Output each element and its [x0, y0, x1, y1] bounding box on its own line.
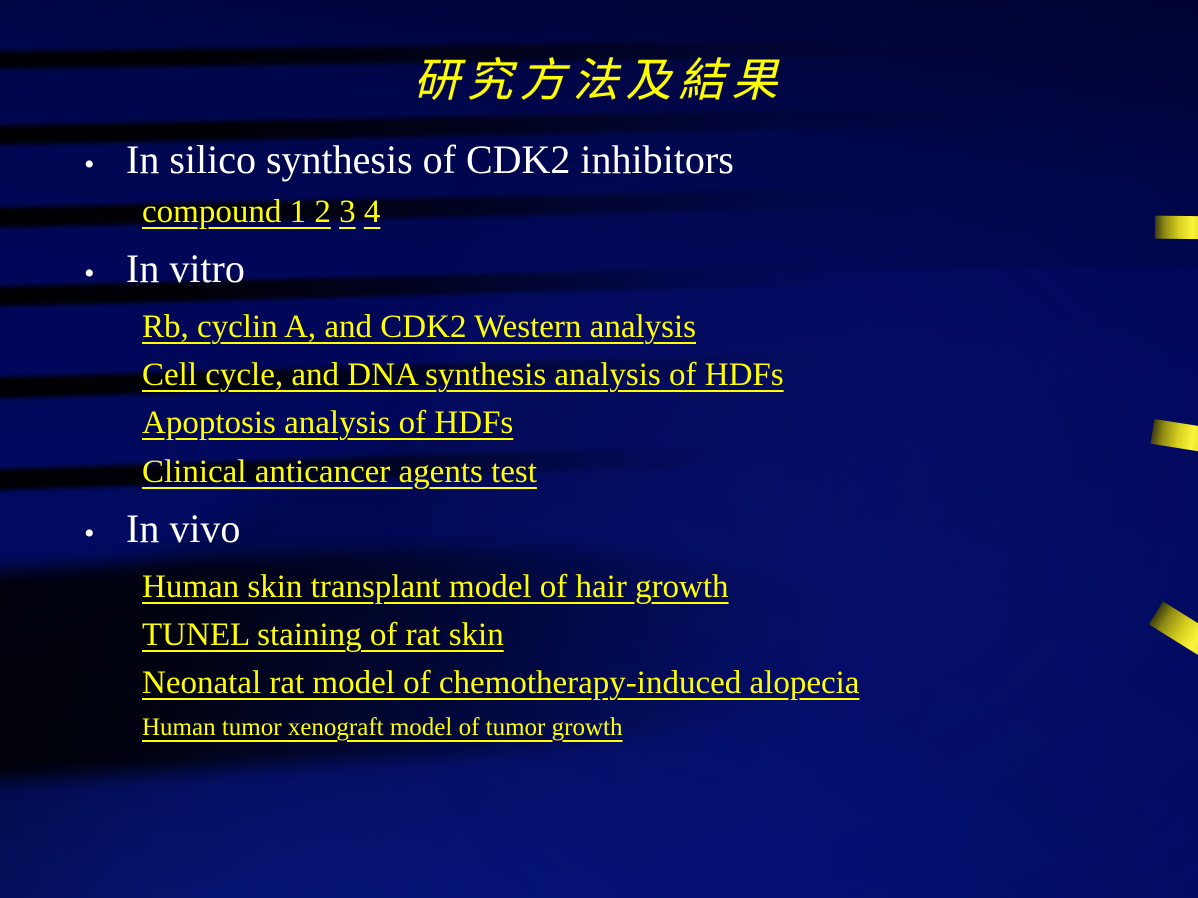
link-human-skin-transplant-model[interactable]: Human skin transplant model of hair grow… — [142, 569, 729, 605]
spacer — [84, 606, 1158, 616]
spacer — [84, 231, 1158, 247]
sub-item-row: Cell cycle, and DNA synthesis analysis o… — [142, 356, 1158, 394]
link-clinical-anticancer-agents-test[interactable]: Clinical anticancer agents test — [142, 454, 537, 490]
sub-item-row: Apoptosis analysis of HDFs — [142, 404, 1158, 442]
bullet-item-in-vivo: • In vivo — [84, 507, 1158, 552]
bullet-label: In vivo — [126, 507, 240, 552]
spacer — [84, 346, 1158, 356]
link-compound-4[interactable]: 4 — [364, 194, 381, 230]
link-apoptosis-analysis[interactable]: Apoptosis analysis of HDFs — [142, 405, 513, 441]
bullet-item-in-silico: • In silico synthesis of CDK2 inhibitors — [84, 138, 1158, 183]
link-rb-cyclin-cdk2-western[interactable]: Rb, cyclin A, and CDK2 Western analysis — [142, 309, 696, 345]
spacer — [84, 654, 1158, 664]
slide-content: 研究方法及結果 • In silico synthesis of CDK2 in… — [0, 0, 1198, 898]
link-tunel-staining-rat-skin[interactable]: TUNEL staining of rat skin — [142, 617, 504, 653]
sub-item-row: Human tumor xenograft model of tumor gro… — [142, 713, 1158, 742]
bullet-label: In silico synthesis of CDK2 inhibitors — [126, 138, 734, 183]
spacer — [84, 183, 1158, 193]
sub-item-row: Neonatal rat model of chemotherapy-induc… — [142, 664, 1158, 702]
spacer — [84, 394, 1158, 404]
compound-link-row: compound 1 2 3 4 — [142, 193, 1158, 231]
slide-body: • In silico synthesis of CDK2 inhibitors… — [84, 138, 1158, 742]
bullet-item-in-vitro: • In vitro — [84, 247, 1158, 292]
sub-item-row: Human skin transplant model of hair grow… — [142, 568, 1158, 606]
link-human-tumor-xenograft-model[interactable]: Human tumor xenograft model of tumor gro… — [142, 714, 622, 741]
sub-item-row: Clinical anticancer agents test — [142, 453, 1158, 491]
bullet-label: In vitro — [126, 247, 245, 292]
spacer — [84, 443, 1158, 453]
spacer — [84, 292, 1158, 308]
link-neonatal-rat-model-alopecia[interactable]: Neonatal rat model of chemotherapy-induc… — [142, 665, 859, 701]
presentation-slide: 研究方法及結果 • In silico synthesis of CDK2 in… — [0, 0, 1198, 898]
bullet-dot-icon: • — [84, 507, 126, 549]
slide-title: 研究方法及結果 — [0, 44, 1198, 110]
link-separator — [331, 194, 339, 230]
spacer — [84, 491, 1158, 507]
spacer — [84, 703, 1158, 713]
link-compound-1-2[interactable]: compound 1 2 — [142, 194, 331, 230]
sub-item-row: Rb, cyclin A, and CDK2 Western analysis — [142, 308, 1158, 346]
bullet-dot-icon: • — [84, 247, 126, 289]
spacer — [84, 552, 1158, 568]
sub-item-row: TUNEL staining of rat skin — [142, 616, 1158, 654]
link-separator — [356, 194, 364, 230]
link-compound-3[interactable]: 3 — [339, 194, 356, 230]
link-cell-cycle-dna-synthesis[interactable]: Cell cycle, and DNA synthesis analysis o… — [142, 357, 784, 393]
bullet-dot-icon: • — [84, 138, 126, 180]
